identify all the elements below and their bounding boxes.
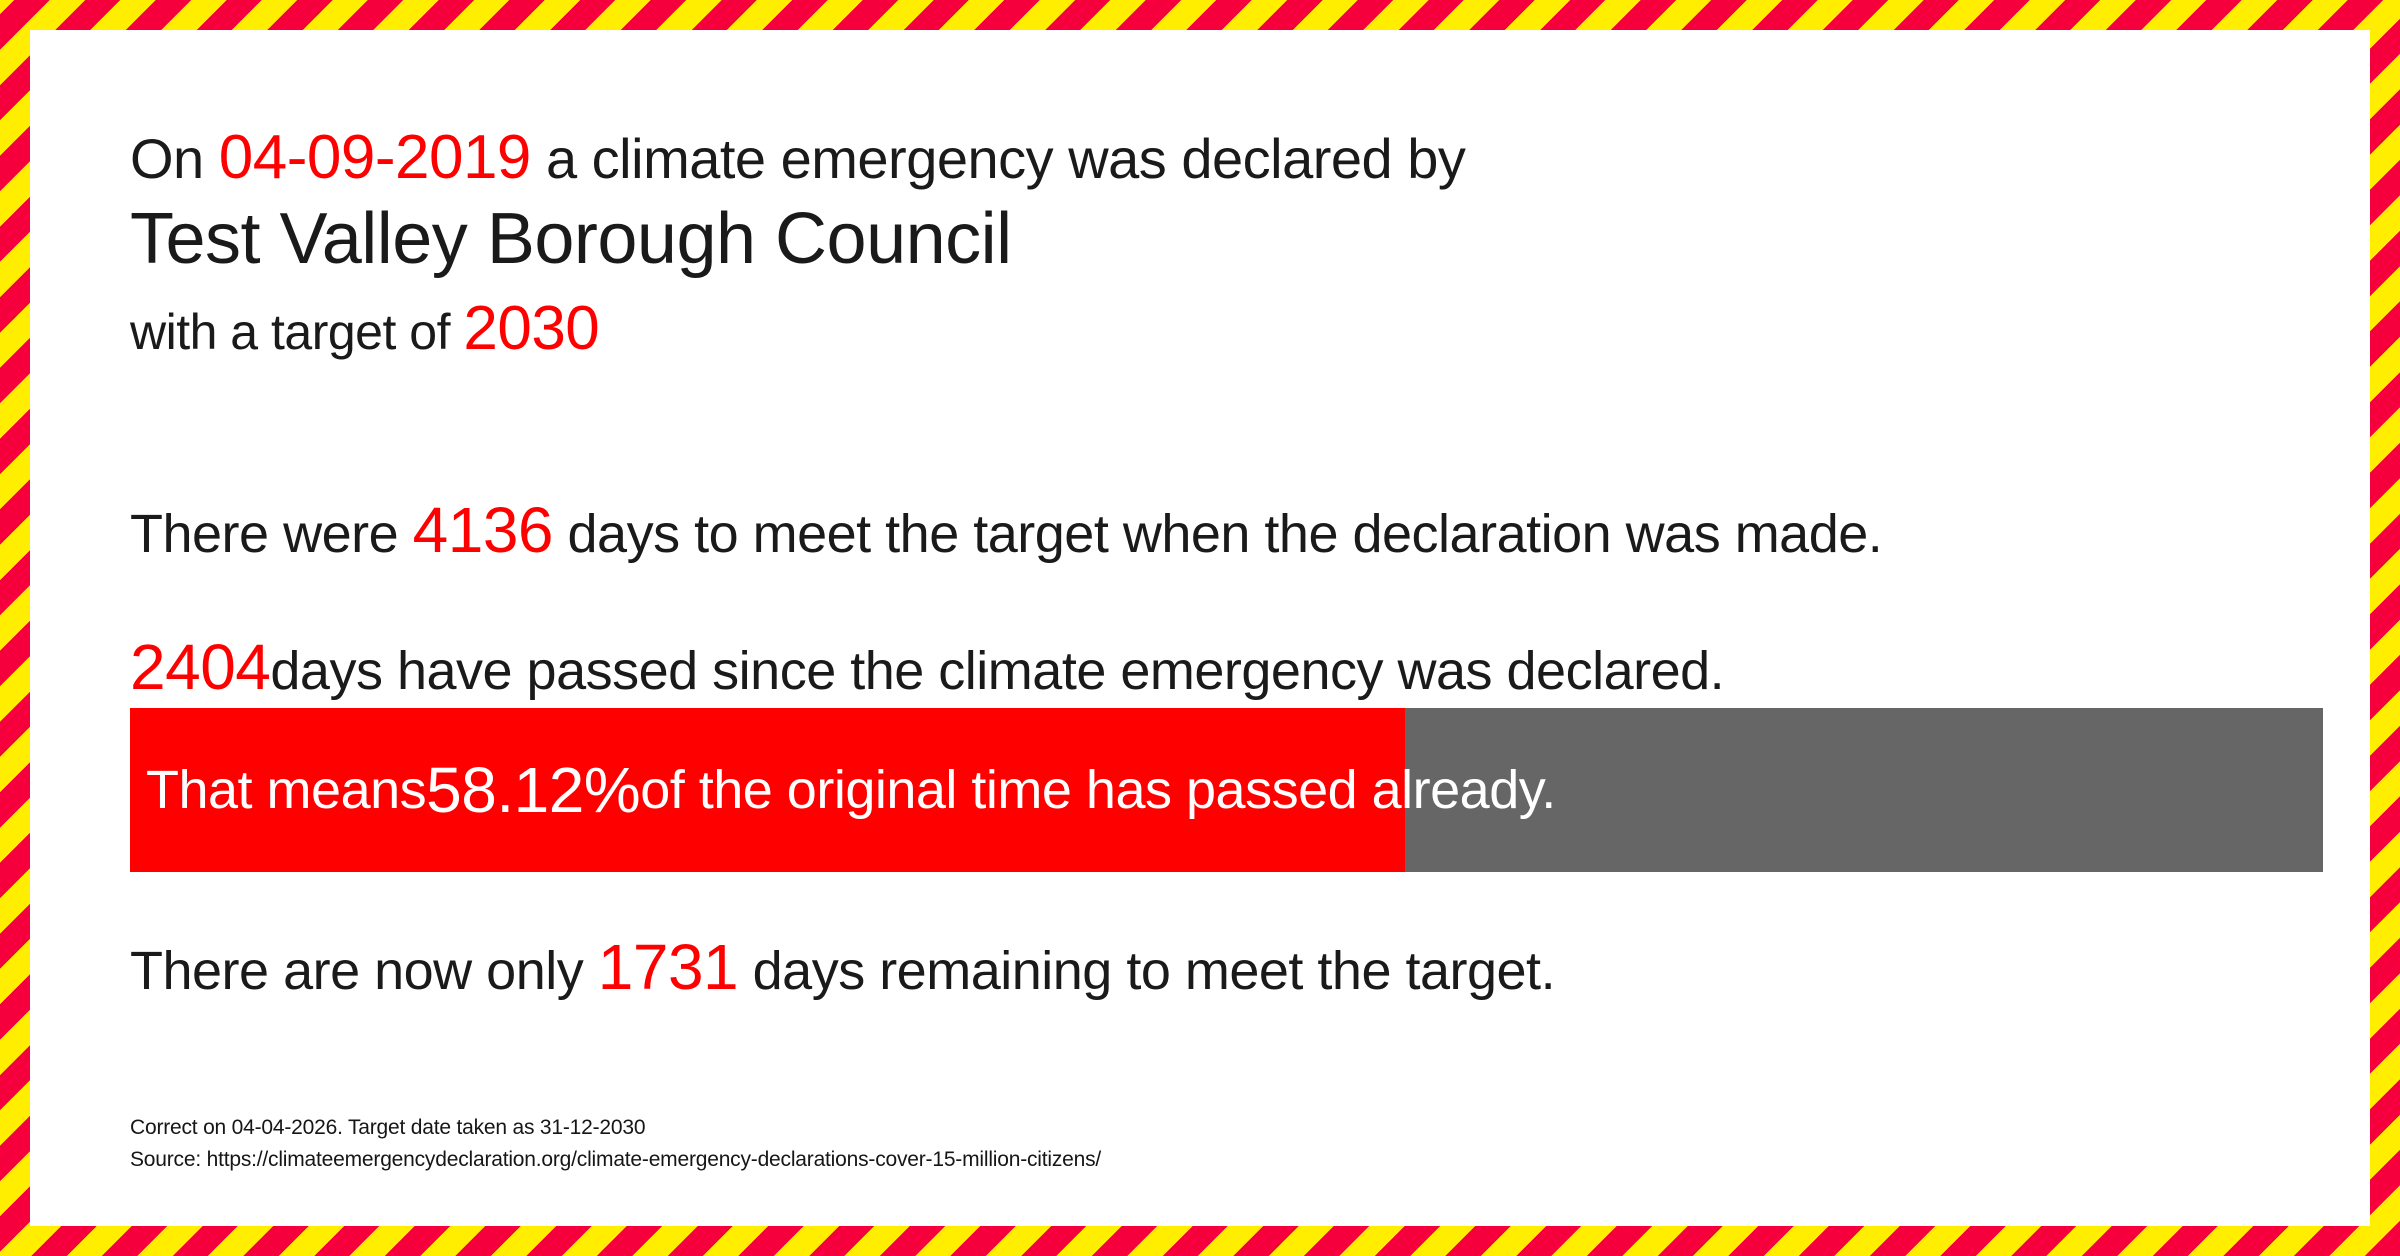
progress-suffix-text: of the original time has passed already. bbox=[640, 759, 1556, 821]
footer-source: Source: https://climateemergencydeclarat… bbox=[130, 1144, 1101, 1176]
footer-note: Correct on 04-04-2026. Target date taken… bbox=[130, 1112, 1101, 1176]
progress-percent-value: 58.12% bbox=[426, 753, 640, 827]
original-prefix-text: There were bbox=[130, 504, 413, 564]
target-prefix-text: with a target of bbox=[130, 304, 463, 360]
poster-content: On 04-09-2019 a climate emergency was de… bbox=[100, 30, 2330, 1226]
declaration-date-value: 04-09-2019 bbox=[219, 123, 531, 192]
progress-prefix-text: That means bbox=[146, 759, 426, 821]
elapsed-days-value: 2404 bbox=[130, 631, 270, 703]
footer-correct-on: Correct on 04-04-2026. Target date taken… bbox=[130, 1112, 1101, 1144]
authority-name: Test Valley Borough Council bbox=[130, 198, 1012, 280]
original-suffix-text: days to meet the target when the declara… bbox=[553, 504, 1882, 564]
remaining-suffix-text: days remaining to meet the target. bbox=[738, 941, 1555, 1001]
original-days-value: 4136 bbox=[413, 494, 553, 566]
remaining-days-value: 1731 bbox=[598, 931, 738, 1003]
original-days-line: There were 4136 days to meet the target … bbox=[130, 493, 1882, 567]
progress-bar: That means 58.12% of the original time h… bbox=[130, 708, 2323, 872]
hazard-frame: On 04-09-2019 a climate emergency was de… bbox=[0, 0, 2400, 1256]
remaining-days-line: There are now only 1731 days remaining t… bbox=[130, 930, 1555, 1004]
target-year-line: with a target of 2030 bbox=[130, 293, 599, 364]
poster-card: On 04-09-2019 a climate emergency was de… bbox=[30, 30, 2370, 1226]
declaration-date-line: On 04-09-2019 a climate emergency was de… bbox=[130, 122, 1465, 193]
declaration-suffix-text: a climate emergency was declared by bbox=[531, 127, 1465, 190]
declaration-prefix-text: On bbox=[130, 127, 219, 190]
target-year-value: 2030 bbox=[463, 294, 599, 363]
elapsed-days-line: 2404days have passed since the climate e… bbox=[130, 630, 1724, 704]
elapsed-suffix-text: days have passed since the climate emerg… bbox=[270, 641, 1724, 701]
progress-bar-label: That means 58.12% of the original time h… bbox=[146, 708, 1556, 872]
remaining-prefix-text: There are now only bbox=[130, 941, 598, 1001]
